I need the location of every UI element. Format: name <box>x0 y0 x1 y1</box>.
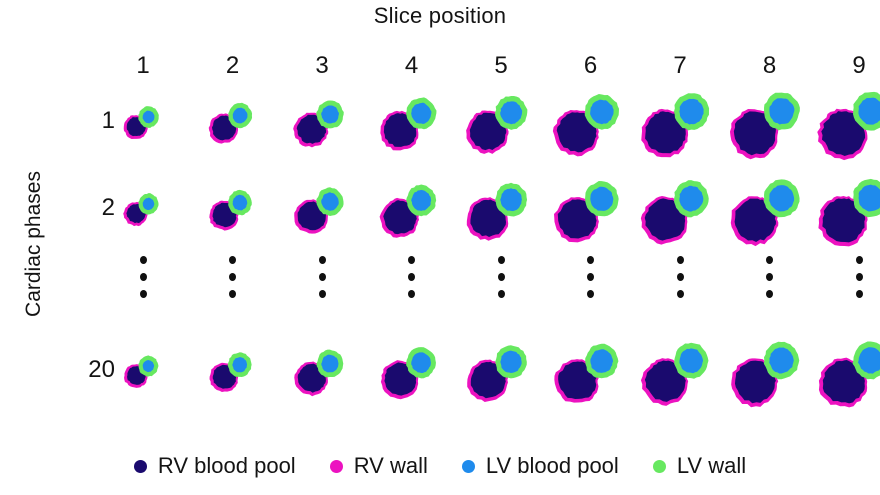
segmentation-cell-phase-1-slice-3[interactable] <box>276 76 368 168</box>
ellipsis-dot-icon <box>856 256 863 264</box>
ellipsis-dot-icon <box>498 290 505 298</box>
segmentation-cell-phase-1-slice-7[interactable] <box>634 76 726 168</box>
legend-label: LV blood pool <box>486 455 619 477</box>
segmentation-cell-phase-1-slice-8[interactable] <box>724 76 816 168</box>
ellipsis-dot-icon <box>140 256 147 264</box>
segmentation-cell-phase-20-slice-3[interactable] <box>276 325 368 417</box>
segmentation-cell-phase-2-slice-5[interactable] <box>455 163 547 255</box>
vertical-ellipsis-column-1 <box>133 256 153 298</box>
segmentation-cell-phase-2-slice-2[interactable] <box>187 163 279 255</box>
ellipsis-dot-icon <box>766 273 773 281</box>
segmentation-cell-phase-1-slice-5[interactable] <box>455 76 547 168</box>
segmentation-cell-phase-2-slice-9[interactable] <box>813 163 880 255</box>
vertical-ellipsis-column-3 <box>312 256 332 298</box>
vertical-ellipsis-column-9 <box>849 256 869 298</box>
vertical-ellipsis-column-4 <box>402 256 422 298</box>
ellipsis-dot-icon <box>587 273 594 281</box>
legend-item-rv-blood-pool: RV blood pool <box>134 455 296 477</box>
ellipsis-dot-icon <box>587 256 594 264</box>
segmentation-cell-phase-1-slice-1[interactable] <box>97 76 189 168</box>
ellipsis-dot-icon <box>677 273 684 281</box>
segmentation-cell-phase-2-slice-6[interactable] <box>545 163 637 255</box>
segmentation-cell-phase-1-slice-4[interactable] <box>366 76 458 168</box>
ellipsis-dot-icon <box>140 273 147 281</box>
segmentation-grid <box>0 0 880 440</box>
legend-label: RV blood pool <box>158 455 296 477</box>
ellipsis-dot-icon <box>229 256 236 264</box>
ellipsis-dot-icon <box>856 273 863 281</box>
ellipsis-dot-icon <box>766 290 773 298</box>
dot-icon <box>653 460 666 473</box>
segmentation-cell-phase-20-slice-5[interactable] <box>455 325 547 417</box>
vertical-ellipsis-column-7 <box>670 256 690 298</box>
segmentation-cell-phase-2-slice-8[interactable] <box>724 163 816 255</box>
segmentation-cell-phase-2-slice-7[interactable] <box>634 163 726 255</box>
ellipsis-dot-icon <box>856 290 863 298</box>
dot-icon <box>462 460 475 473</box>
vertical-ellipsis-column-5 <box>491 256 511 298</box>
ellipsis-dot-icon <box>677 256 684 264</box>
vertical-ellipsis-column-2 <box>223 256 243 298</box>
vertical-ellipsis-column-8 <box>760 256 780 298</box>
ellipsis-dot-icon <box>140 290 147 298</box>
segmentation-cell-phase-20-slice-4[interactable] <box>366 325 458 417</box>
segmentation-cell-phase-20-slice-8[interactable] <box>724 325 816 417</box>
legend: RV blood poolRV wallLV blood poolLV wall <box>0 446 880 486</box>
segmentation-cell-phase-20-slice-9[interactable] <box>813 325 880 417</box>
vertical-ellipsis-column-6 <box>581 256 601 298</box>
legend-item-lv-blood-pool: LV blood pool <box>462 455 619 477</box>
ellipsis-dot-icon <box>229 290 236 298</box>
legend-label: RV wall <box>354 455 428 477</box>
legend-label: LV wall <box>677 455 746 477</box>
segmentation-cell-phase-20-slice-2[interactable] <box>187 325 279 417</box>
segmentation-cell-phase-2-slice-4[interactable] <box>366 163 458 255</box>
ellipsis-dot-icon <box>587 290 594 298</box>
ellipsis-dot-icon <box>408 290 415 298</box>
segmentation-cell-phase-1-slice-9[interactable] <box>813 76 880 168</box>
ellipsis-dot-icon <box>319 273 326 281</box>
segmentation-cell-phase-20-slice-6[interactable] <box>545 325 637 417</box>
ellipsis-dot-icon <box>319 290 326 298</box>
segmentation-cell-phase-1-slice-6[interactable] <box>545 76 637 168</box>
ellipsis-dot-icon <box>498 256 505 264</box>
ellipsis-dot-icon <box>229 273 236 281</box>
legend-item-lv-wall: LV wall <box>653 455 746 477</box>
ellipsis-dot-icon <box>677 290 684 298</box>
segmentation-cell-phase-20-slice-1[interactable] <box>97 325 189 417</box>
segmentation-cell-phase-2-slice-3[interactable] <box>276 163 368 255</box>
segmentation-cell-phase-1-slice-2[interactable] <box>187 76 279 168</box>
ellipsis-dot-icon <box>766 256 773 264</box>
dot-icon <box>330 460 343 473</box>
ellipsis-dot-icon <box>498 273 505 281</box>
segmentation-cell-phase-2-slice-1[interactable] <box>97 163 189 255</box>
dot-icon <box>134 460 147 473</box>
ellipsis-dot-icon <box>319 256 326 264</box>
ellipsis-dot-icon <box>408 273 415 281</box>
ellipsis-dot-icon <box>408 256 415 264</box>
legend-item-rv-wall: RV wall <box>330 455 428 477</box>
segmentation-cell-phase-20-slice-7[interactable] <box>634 325 726 417</box>
